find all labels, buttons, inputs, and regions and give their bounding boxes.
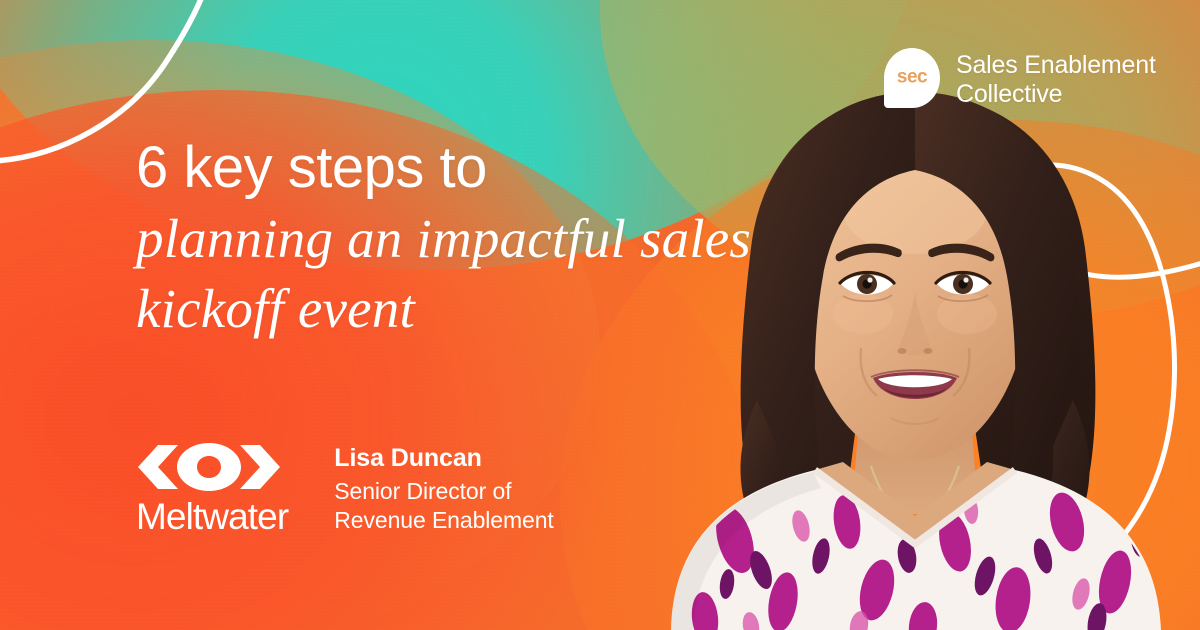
social-card: sec Sales Enablement Collective 6 key st… xyxy=(0,0,1200,630)
meltwater-logo: Meltwater xyxy=(136,437,288,535)
speech-bubble-icon: sec xyxy=(884,48,940,108)
headline-line-2: planning an impactful sales kickoff even… xyxy=(136,204,776,343)
meltwater-wordmark: Meltwater xyxy=(136,498,288,535)
speaker-info: Lisa Duncan Senior Director of Revenue E… xyxy=(334,437,553,536)
page-title: 6 key steps to planning an impactful sal… xyxy=(136,138,776,343)
meltwater-eye-icon xyxy=(136,441,282,493)
sec-brand-name: Sales Enablement Collective xyxy=(956,48,1156,110)
speaker-block: Meltwater Lisa Duncan Senior Director of… xyxy=(136,437,554,536)
speaker-role: Senior Director of Revenue Enablement xyxy=(334,477,553,536)
headline-line-1: 6 key steps to xyxy=(136,138,776,198)
sec-mark-label: sec xyxy=(884,67,940,89)
speaker-name: Lisa Duncan xyxy=(334,443,553,473)
sec-brand-lockup: sec Sales Enablement Collective xyxy=(884,48,1156,110)
